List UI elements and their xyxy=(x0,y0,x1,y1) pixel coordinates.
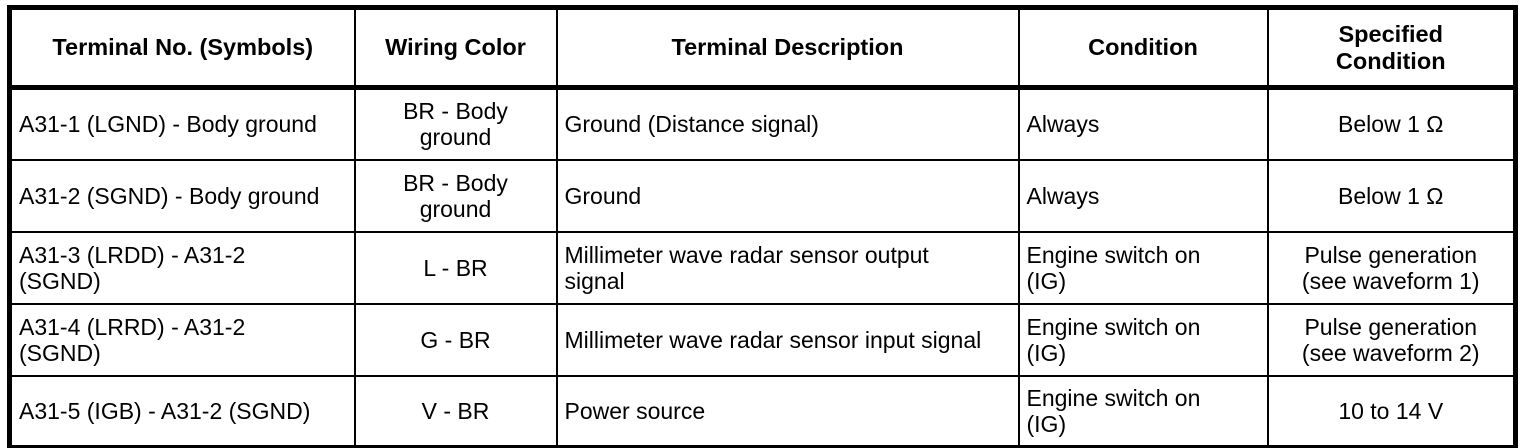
cell-condition-text: Engine switch on (IG) xyxy=(1027,385,1260,437)
cell-wiring-color-text: BR - Body ground xyxy=(363,170,549,222)
cell-specified-condition: Pulse generation (see waveform 2) xyxy=(1268,304,1516,376)
cell-terminal-description: Ground xyxy=(557,160,1019,232)
cell-specified-condition-text: 10 to 14 V xyxy=(1276,398,1507,424)
cell-terminal-no: A31-5 (IGB) - A31-2 (SGND) xyxy=(10,376,355,448)
cell-terminal-description: Power source xyxy=(557,376,1019,448)
cell-terminal-description: Ground (Distance signal) xyxy=(557,88,1019,160)
table-body: A31-1 (LGND) - Body ground BR - Body gro… xyxy=(10,88,1516,448)
column-header-specified-condition: Specified Condition xyxy=(1268,8,1516,88)
column-header-wiring-color-label: Wiring Color xyxy=(363,34,549,61)
cell-terminal-no-text: A31-2 (SGND) - Body ground xyxy=(19,183,347,209)
cell-wiring-color-text: L - BR xyxy=(363,255,549,281)
cell-wiring-color: BR - Body ground xyxy=(355,88,557,160)
table-row: A31-2 (SGND) - Body ground BR - Body gro… xyxy=(10,160,1516,232)
cell-wiring-color: V - BR xyxy=(355,376,557,448)
page-root: Terminal No. (Symbols) Wiring Color Term… xyxy=(0,0,1520,448)
cell-wiring-color-text: BR - Body ground xyxy=(363,98,549,150)
cell-condition-text: Engine switch on (IG) xyxy=(1027,314,1260,366)
cell-wiring-color-text: G - BR xyxy=(363,327,549,353)
cell-condition-text: Engine switch on (IG) xyxy=(1027,242,1260,294)
column-header-terminal-description: Terminal Description xyxy=(557,8,1019,88)
cell-wiring-color-text: V - BR xyxy=(363,398,549,424)
cell-specified-condition-text: Pulse generation (see waveform 1) xyxy=(1276,242,1507,294)
cell-condition: Engine switch on (IG) xyxy=(1019,304,1268,376)
cell-terminal-description: Millimeter wave radar sensor output sign… xyxy=(557,232,1019,304)
terminal-spec-table: Terminal No. (Symbols) Wiring Color Term… xyxy=(7,5,1518,448)
cell-terminal-no-text: A31-4 (LRRD) - A31-2 (SGND) xyxy=(19,314,347,366)
cell-specified-condition: Pulse generation (see waveform 1) xyxy=(1268,232,1516,304)
cell-terminal-no-text: A31-1 (LGND) - Body ground xyxy=(19,111,347,137)
column-header-terminal-no-label: Terminal No. (Symbols) xyxy=(19,34,347,61)
cell-wiring-color: G - BR xyxy=(355,304,557,376)
cell-specified-condition-text: Below 1 Ω xyxy=(1276,183,1507,209)
cell-terminal-no: A31-1 (LGND) - Body ground xyxy=(10,88,355,160)
cell-specified-condition: Below 1 Ω xyxy=(1268,88,1516,160)
table-header: Terminal No. (Symbols) Wiring Color Term… xyxy=(10,8,1516,88)
table-header-row: Terminal No. (Symbols) Wiring Color Term… xyxy=(10,8,1516,88)
cell-specified-condition-text: Below 1 Ω xyxy=(1276,111,1507,137)
table-row: A31-1 (LGND) - Body ground BR - Body gro… xyxy=(10,88,1516,160)
cell-condition-text: Always xyxy=(1027,111,1260,137)
cell-condition: Always xyxy=(1019,160,1268,232)
cell-condition: Always xyxy=(1019,88,1268,160)
cell-terminal-description-text: Ground xyxy=(565,183,1011,209)
cell-terminal-no: A31-3 (LRDD) - A31-2 (SGND) xyxy=(10,232,355,304)
cell-terminal-no-text: A31-5 (IGB) - A31-2 (SGND) xyxy=(19,398,347,424)
cell-terminal-no: A31-4 (LRRD) - A31-2 (SGND) xyxy=(10,304,355,376)
cell-condition: Engine switch on (IG) xyxy=(1019,232,1268,304)
column-header-condition-label: Condition xyxy=(1027,34,1260,61)
cell-terminal-no-text: A31-3 (LRDD) - A31-2 (SGND) xyxy=(19,242,347,294)
cell-condition-text: Always xyxy=(1027,183,1260,209)
cell-terminal-description-text: Millimeter wave radar sensor input signa… xyxy=(565,327,1011,353)
cell-terminal-description-text: Ground (Distance signal) xyxy=(565,111,1011,137)
column-header-terminal-description-label: Terminal Description xyxy=(565,34,1011,61)
column-header-terminal-no: Terminal No. (Symbols) xyxy=(10,8,355,88)
table-row: A31-4 (LRRD) - A31-2 (SGND) G - BR Milli… xyxy=(10,304,1516,376)
cell-terminal-description-text: Power source xyxy=(565,398,1011,424)
column-header-condition: Condition xyxy=(1019,8,1268,88)
cell-specified-condition: Below 1 Ω xyxy=(1268,160,1516,232)
table-row: A31-5 (IGB) - A31-2 (SGND) V - BR Power … xyxy=(10,376,1516,448)
cell-wiring-color: BR - Body ground xyxy=(355,160,557,232)
cell-terminal-description: Millimeter wave radar sensor input signa… xyxy=(557,304,1019,376)
column-header-specified-condition-label: Specified Condition xyxy=(1276,21,1507,74)
cell-terminal-description-text: Millimeter wave radar sensor output sign… xyxy=(565,242,1011,294)
cell-wiring-color: L - BR xyxy=(355,232,557,304)
cell-condition: Engine switch on (IG) xyxy=(1019,376,1268,448)
column-header-wiring-color: Wiring Color xyxy=(355,8,557,88)
cell-specified-condition: 10 to 14 V xyxy=(1268,376,1516,448)
table-row: A31-3 (LRDD) - A31-2 (SGND) L - BR Milli… xyxy=(10,232,1516,304)
cell-terminal-no: A31-2 (SGND) - Body ground xyxy=(10,160,355,232)
cell-specified-condition-text: Pulse generation (see waveform 2) xyxy=(1276,314,1507,366)
